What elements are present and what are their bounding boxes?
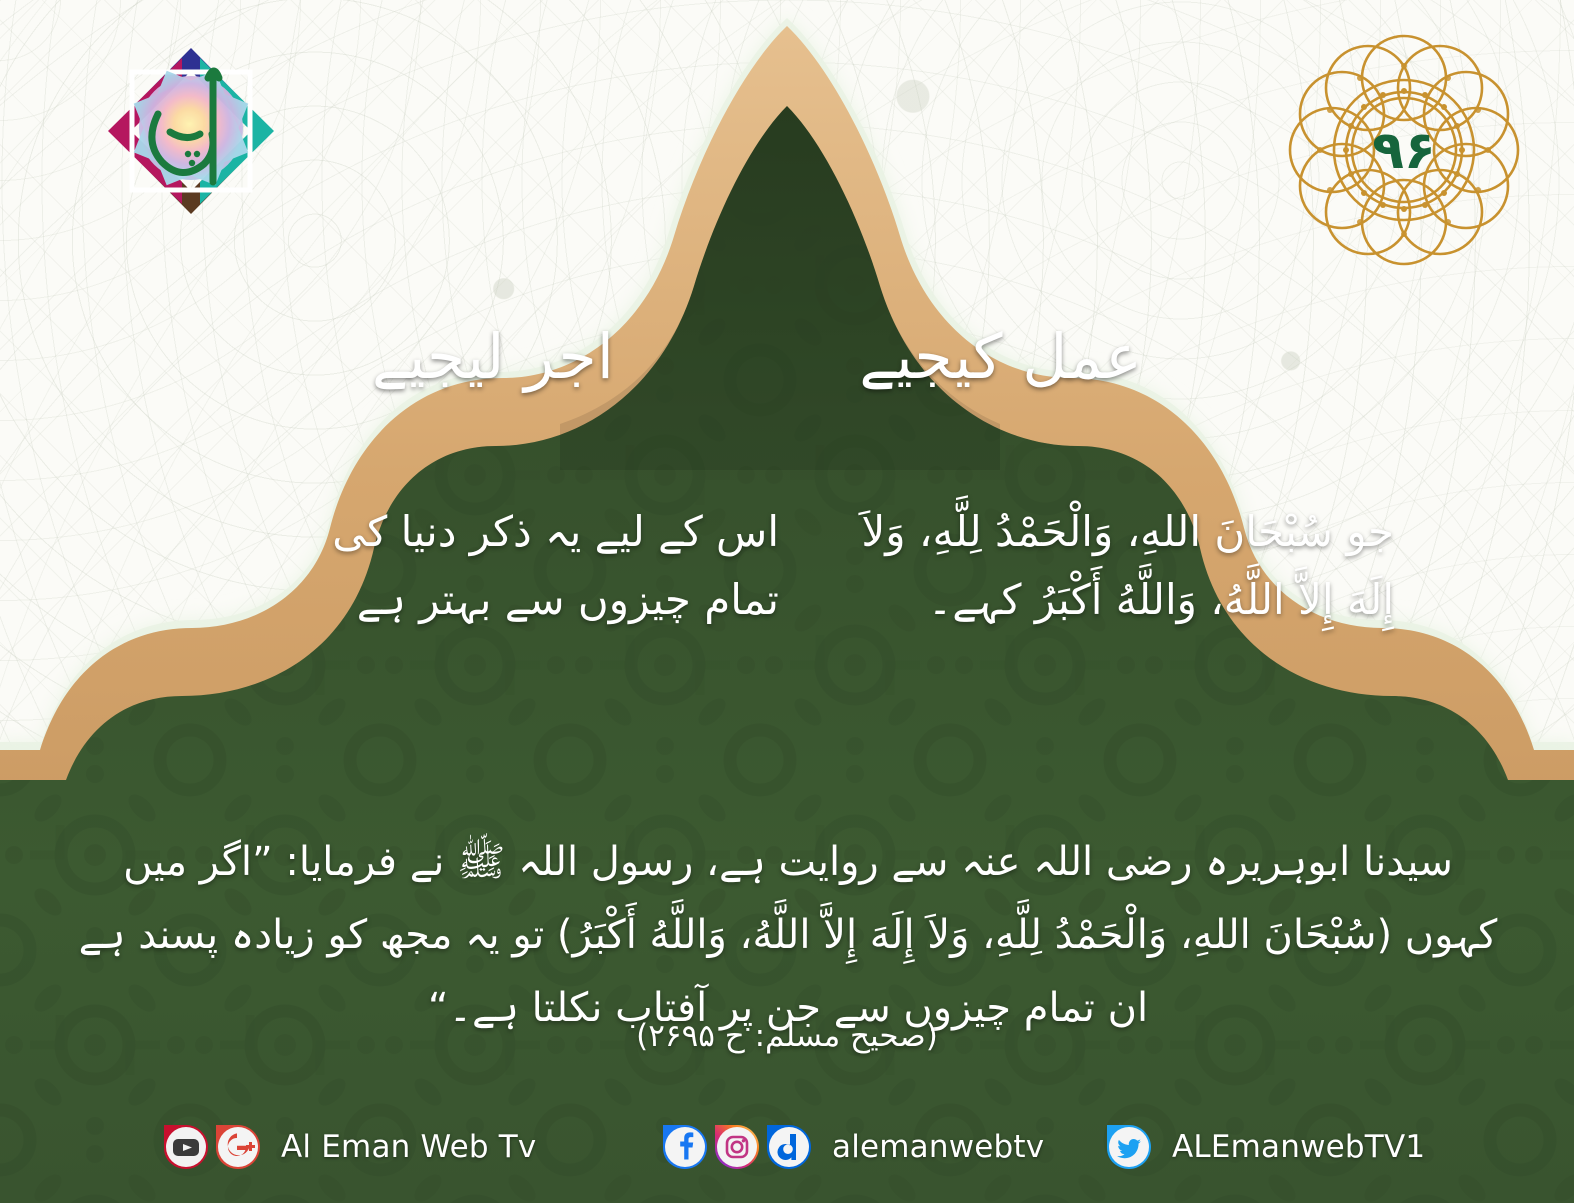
heading-amal-kijiye: عمل کیجیے [859, 318, 1142, 396]
column-amal-text: جو سُبْحَانَ اللهِ، وَالْحَمْدُ لِلَّهِ،… [834, 498, 1394, 634]
card-number-text: ۹۶ [1372, 121, 1435, 181]
google-plus-icon[interactable] [215, 1124, 261, 1170]
social-group-youtube: Al Eman Web Tv [163, 1104, 536, 1190]
card-number-badge: ۹۶ [1288, 34, 1520, 266]
handle-alemanwebtv1[interactable]: ALEmanwebTV1 [1172, 1129, 1425, 1165]
hadith-card: ۹۶ عمل کیجیے اجر لیجیے جو سُبْحَانَ الله… [0, 0, 1574, 1203]
social-group-facebook: alemanwebtv [662, 1104, 1044, 1190]
logo-icon [96, 36, 286, 226]
social-group-twitter: ALEmanwebTV1 [1106, 1104, 1425, 1190]
headings-row: عمل کیجیے اجر لیجیے [0, 318, 1574, 428]
footer-social-bar: Al Eman Web Tv [0, 1104, 1574, 1190]
icon-stack-youtube [163, 1124, 267, 1170]
hadith-citation: (صحیح مسلم: ح ۲۶۹۵) [0, 1018, 1574, 1054]
facebook-icon[interactable] [662, 1124, 708, 1170]
column-ajr-text: اس کے لیے یہ ذکر دنیا کی تمام چیزوں سے ب… [259, 498, 779, 634]
instagram-icon[interactable] [714, 1124, 760, 1170]
icon-stack-twitter [1106, 1124, 1158, 1170]
heading-ajr-lijiye: اجر لیجیے [372, 318, 614, 396]
dailymotion-icon[interactable] [766, 1124, 812, 1170]
brand-logo[interactable] [96, 36, 286, 226]
handle-alemanwebtv[interactable]: alemanwebtv [832, 1129, 1044, 1165]
content-layer: ۹۶ عمل کیجیے اجر لیجیے جو سُبْحَانَ الله… [0, 0, 1574, 1203]
handle-al-eman-web-tv[interactable]: Al Eman Web Tv [281, 1129, 536, 1165]
hadith-text: سیدنا ابوہریرہ رضی اللہ عنہ سے روایت ہے،… [78, 826, 1498, 1044]
youtube-icon[interactable] [163, 1124, 209, 1170]
twitter-icon[interactable] [1106, 1124, 1152, 1170]
columns-row: جو سُبْحَانَ اللهِ، وَالْحَمْدُ لِلَّهِ،… [0, 498, 1574, 698]
icon-stack-facebook [662, 1124, 818, 1170]
